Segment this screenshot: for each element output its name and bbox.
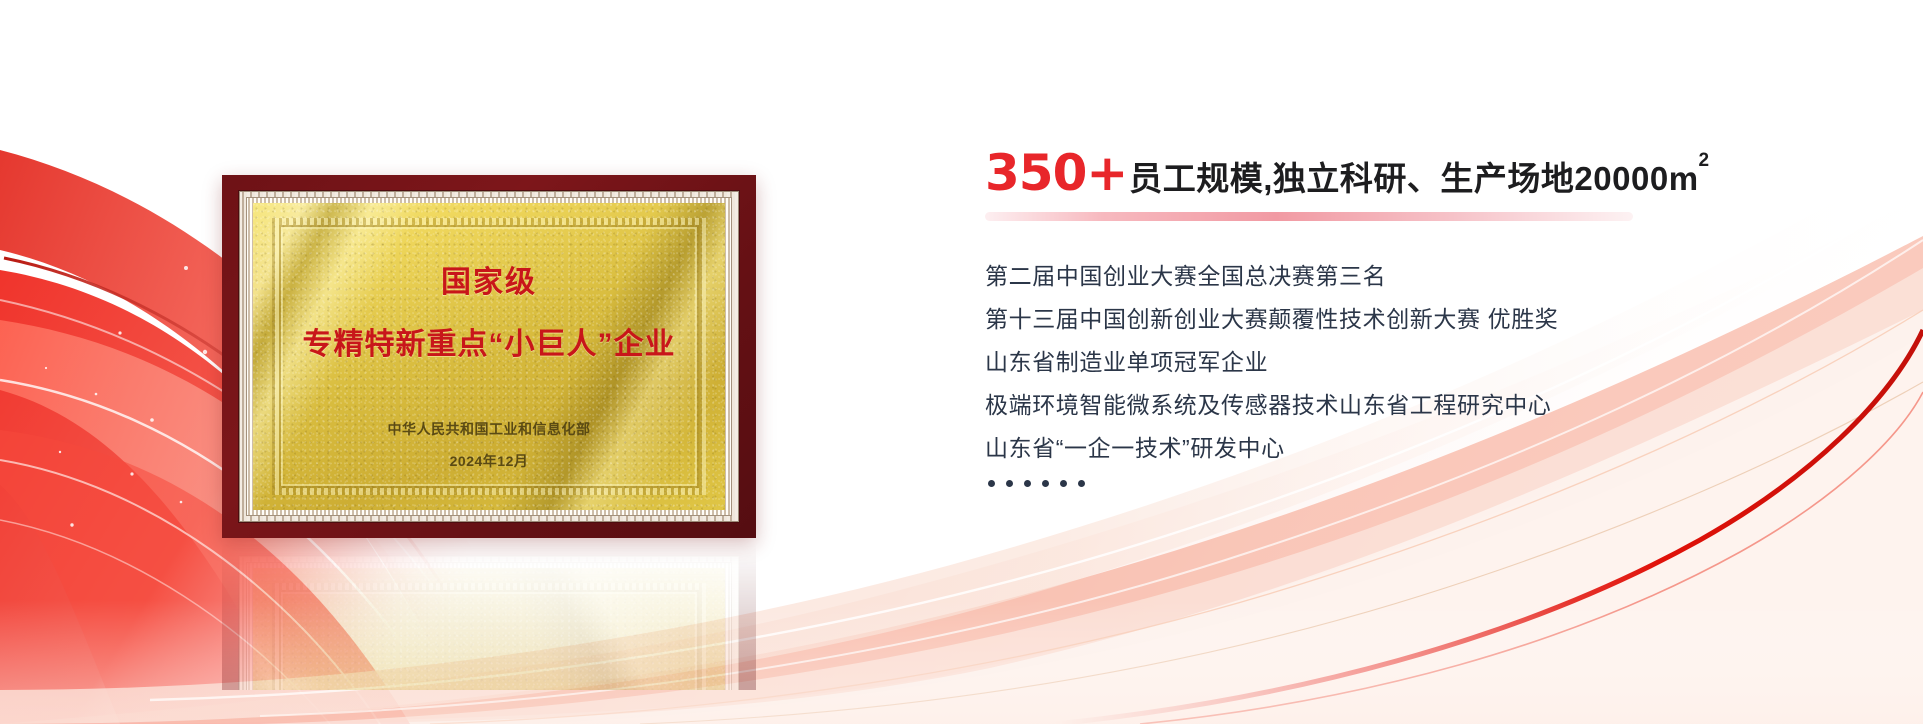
headline-text-main: 员工规模,独立科研、生产场地20000m (1129, 160, 1698, 197)
headline: 350+ 员工规模,独立科研、生产场地20000m2 (985, 148, 1885, 198)
ellipsis-dot (1042, 480, 1049, 487)
ellipsis-dot (988, 480, 995, 487)
plaque-date: 2024年12月 (450, 451, 529, 471)
award-item: 第二届中国创业大赛全国总决赛第三名 (985, 265, 1885, 288)
ellipsis-dot (1024, 480, 1031, 487)
headline-text: 员工规模,独立科研、生产场地20000m2 (1129, 162, 1709, 195)
more-items-ellipsis (985, 480, 1885, 487)
plaque-frame: 国家级 专精特新重点“小巨人”企业 中华人民共和国工业和信息化部 2024年12… (222, 175, 756, 538)
headline-superscript: 2 (1699, 150, 1710, 171)
awards-list: 第二届中国创业大赛全国总决赛第三名 第十三届中国创新创业大赛颠覆性技术创新大赛 … (985, 265, 1885, 487)
plaque-subtitle: 专精特新重点“小巨人”企业 (303, 319, 676, 363)
plaque-gold-plate: 国家级 专精特新重点“小巨人”企业 中华人民共和国工业和信息化部 2024年12… (253, 203, 725, 510)
ellipsis-dot (1006, 480, 1013, 487)
plaque-text-block: 国家级 专精特新重点“小巨人”企业 中华人民共和国工业和信息化部 2024年12… (253, 203, 725, 510)
plaque-silver-border-outer: 国家级 专精特新重点“小巨人”企业 中华人民共和国工业和信息化部 2024年12… (239, 191, 739, 522)
content-column: 350+ 员工规模,独立科研、生产场地20000m2 第二届中国创业大赛全国总决… (985, 148, 1885, 487)
headline-number: 350+ (985, 148, 1127, 198)
plaque-title: 国家级 (441, 257, 537, 301)
award-item: 山东省“一企一技术”研发中心 (985, 437, 1885, 460)
headline-underline (985, 212, 1633, 221)
ellipsis-dot (1060, 480, 1067, 487)
ellipsis-dot (1078, 480, 1085, 487)
award-item: 山东省制造业单项冠军企业 (985, 351, 1885, 374)
plaque-issuer: 中华人民共和国工业和信息化部 (388, 419, 591, 439)
award-item: 极端环境智能微系统及传感器技术山东省工程研究中心 (985, 394, 1885, 417)
award-item: 第十三届中国创新创业大赛颠覆性技术创新大赛 优胜奖 (985, 308, 1885, 331)
award-plaque: 国家级 专精特新重点“小巨人”企业 中华人民共和国工业和信息化部 2024年12… (222, 175, 756, 538)
banner-stage: 国家级 专精特新重点“小巨人”企业 中华人民共和国工业和信息化部 2024年12… (0, 0, 1923, 724)
plaque-silver-border-inner: 国家级 专精特新重点“小巨人”企业 中华人民共和国工业和信息化部 2024年12… (246, 197, 732, 516)
